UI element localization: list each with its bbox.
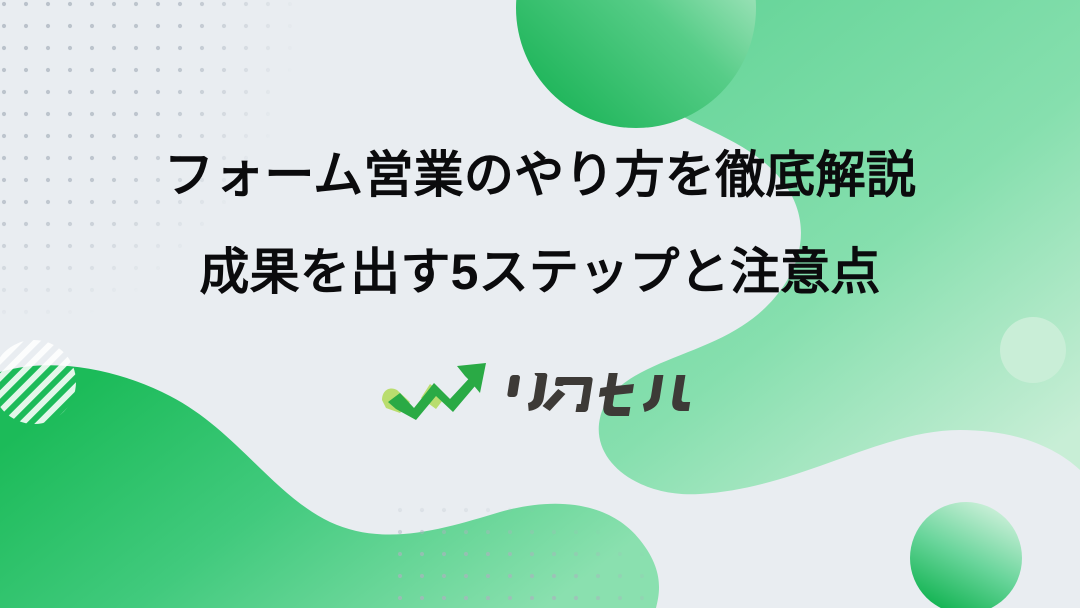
brand-logo xyxy=(380,360,700,426)
thumbnail-card: フォーム営業のやり方を徹底解説 成果を出す5ステップと注意点 xyxy=(0,0,1080,608)
title-line-1: フォーム営業のやり方を徹底解説 xyxy=(0,150,1080,201)
logo-wordmark xyxy=(506,365,700,421)
growth-arrow-icon xyxy=(380,360,492,426)
title-line-2: 成果を出す5ステップと注意点 xyxy=(0,247,1080,298)
page-title: フォーム営業のやり方を徹底解説 成果を出す5ステップと注意点 xyxy=(0,150,1080,298)
card-content: フォーム営業のやり方を徹底解説 成果を出す5ステップと注意点 xyxy=(0,0,1080,608)
